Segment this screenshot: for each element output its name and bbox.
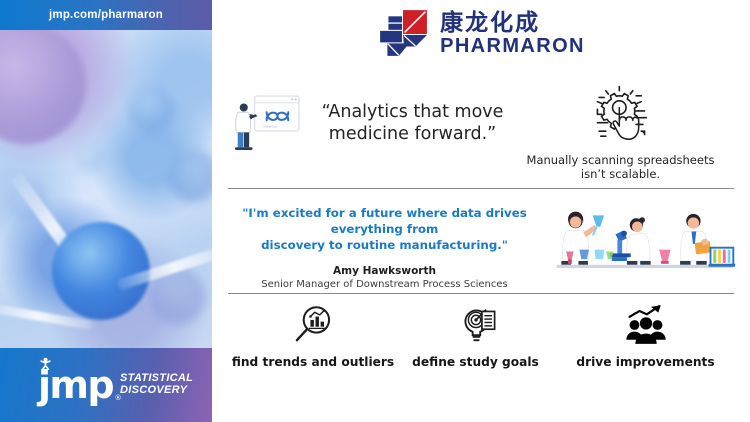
row-testimonial: "I'm excited for a future where data dri… bbox=[222, 202, 742, 288]
infographic-page: jmp.com/pharmaron jmp ® bbox=[0, 0, 750, 422]
feature-find-trends: find trends and outliers bbox=[228, 303, 398, 369]
testimonial-author-role: Senior Manager of Downstream Process Sci… bbox=[222, 279, 547, 290]
pain-caption-line1: Manually scanning spreadsheets bbox=[527, 153, 715, 167]
testimonial-quote-line2: discovery to routine manufacturing." bbox=[222, 238, 547, 254]
molecule-sphere-small bbox=[74, 142, 104, 172]
testimonial-block: "I'm excited for a future where data dri… bbox=[222, 202, 547, 290]
jmp-person-icon bbox=[39, 357, 52, 370]
molecular-background-image bbox=[0, 30, 212, 350]
scientist-presentation-illustration bbox=[228, 92, 304, 154]
testimonial-quote-line1: "I'm excited for a future where data dri… bbox=[222, 206, 547, 238]
molecule-sphere-small bbox=[168, 150, 212, 202]
url-banner-text: jmp.com/pharmaron bbox=[49, 9, 163, 21]
divider-bottom bbox=[228, 293, 734, 294]
pharmaron-chinese-name: 康龙化成 bbox=[440, 11, 585, 35]
feature-label: find trends and outliers bbox=[232, 355, 394, 369]
row-features: find trends and outliers bbox=[228, 303, 738, 383]
registered-mark: ® bbox=[115, 395, 120, 402]
jmp-tagline: STATISTICAL DISCOVERY bbox=[120, 372, 193, 399]
lightbulb-target-document-icon bbox=[454, 303, 498, 347]
people-growth-arrow-icon bbox=[623, 303, 669, 347]
headline-quote-text: “Analytics that move medicine forward.” bbox=[312, 101, 513, 146]
gear-with-pointing-hand-icon bbox=[587, 84, 655, 148]
row-headline: “Analytics that move medicine forward.” bbox=[228, 82, 738, 182]
jmp-footer-bar: jmp ® STATISTICAL DISCOVERY bbox=[0, 348, 212, 422]
feature-label: drive improvements bbox=[576, 355, 714, 369]
feature-label: define study goals bbox=[412, 355, 539, 369]
feature-drive-improvements: drive improvements bbox=[553, 303, 738, 369]
headline-quote-block: “Analytics that move medicine forward.” bbox=[228, 82, 513, 154]
magnifier-bar-chart-icon bbox=[291, 303, 335, 347]
pain-caption-line2: isn’t scalable. bbox=[527, 167, 715, 181]
left-column: jmp.com/pharmaron jmp ® bbox=[0, 0, 212, 422]
feature-define-goals: define study goals bbox=[398, 303, 553, 369]
testimonial-author-name: Amy Hawksworth bbox=[222, 265, 547, 277]
pharmaron-brand: 康龙化成 PHARMARON bbox=[212, 8, 750, 60]
jmp-tagline-line1: STATISTICAL bbox=[120, 372, 193, 384]
testimonial-quote: "I'm excited for a future where data dri… bbox=[222, 206, 547, 254]
jmp-tagline-line2: DISCOVERY bbox=[120, 384, 193, 396]
molecule-sphere-large-blue bbox=[52, 222, 150, 320]
molecule-sphere-small bbox=[128, 86, 174, 132]
lab-scientists-illustration bbox=[549, 202, 739, 282]
pharmaron-logo-icon bbox=[377, 8, 429, 60]
content-column: 康龙化成 PHARMARON bbox=[212, 0, 750, 422]
pharmaron-english-name: PHARMARON bbox=[440, 36, 585, 57]
pain-point-caption: Manually scanning spreadsheets isn’t sca… bbox=[527, 153, 715, 182]
divider-top bbox=[228, 188, 734, 189]
jmp-wordmark: jmp ® bbox=[38, 366, 113, 404]
url-banner[interactable]: jmp.com/pharmaron bbox=[0, 0, 212, 30]
pain-point-block: Manually scanning spreadsheets isn’t sca… bbox=[513, 82, 728, 182]
jmp-logo[interactable]: jmp ® STATISTICAL DISCOVERY bbox=[38, 366, 193, 404]
molecule-sphere-large-purple bbox=[0, 30, 86, 144]
